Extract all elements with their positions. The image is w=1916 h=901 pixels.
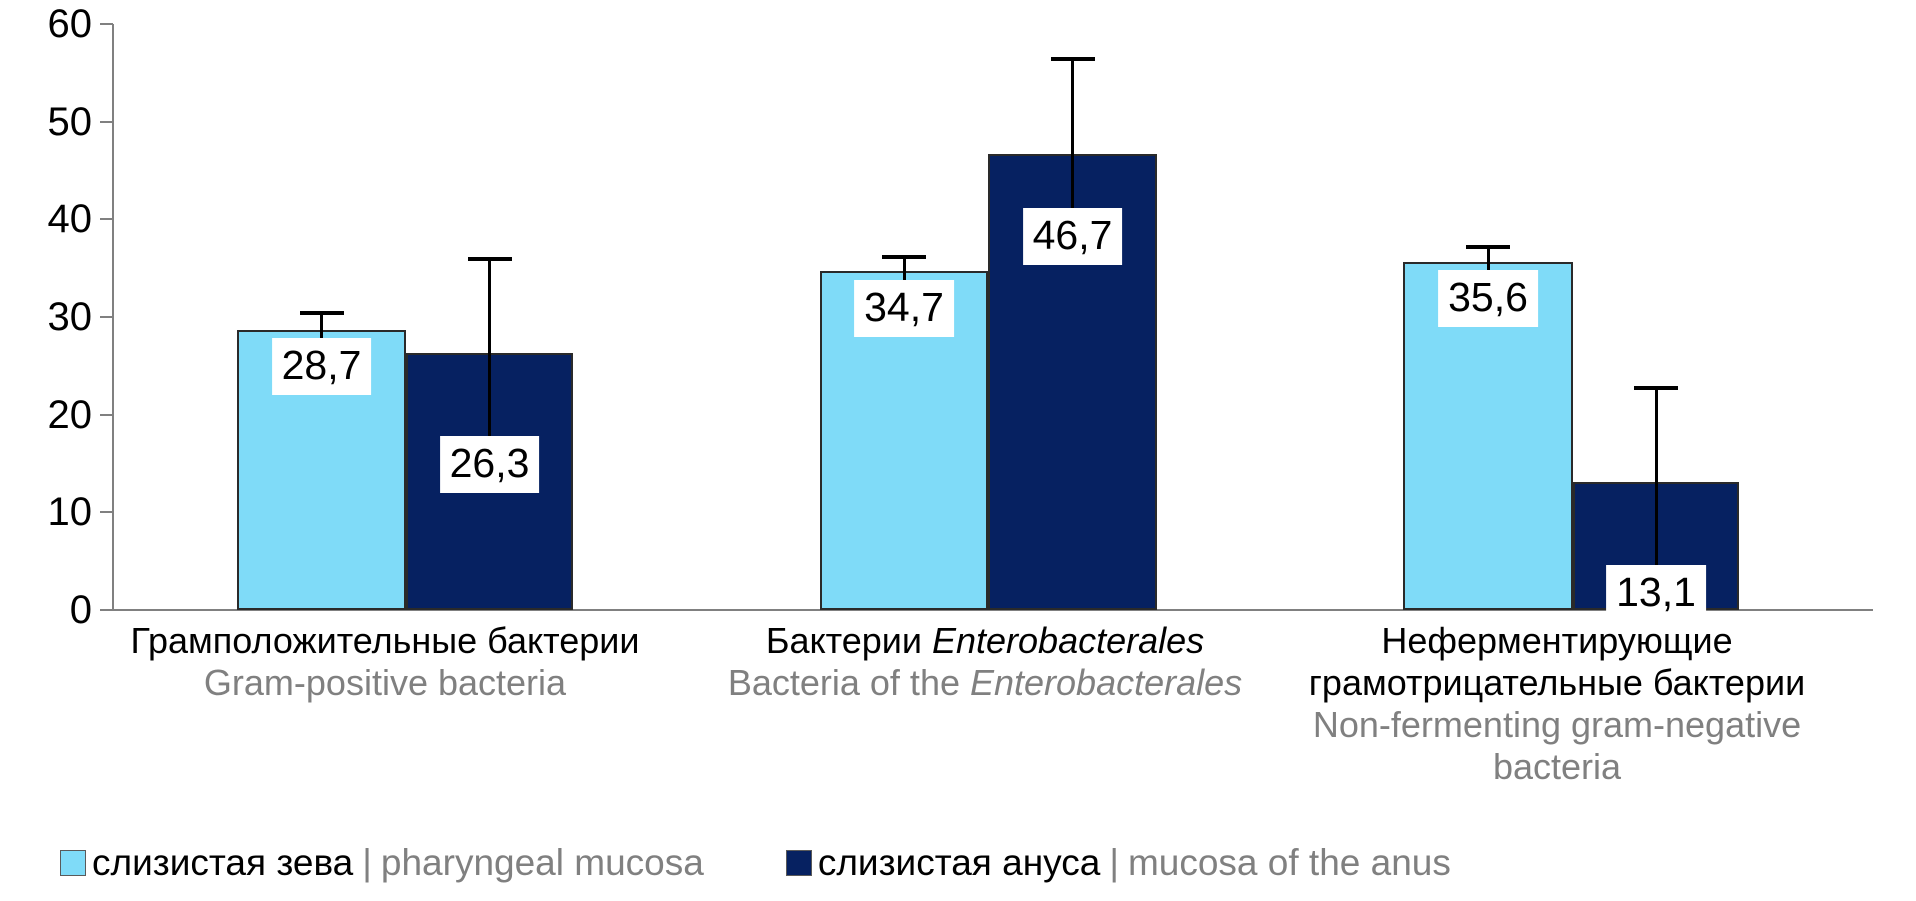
bar-value-label-series0-group1: 34,7 (854, 280, 954, 337)
legend-item-1[interactable]: слизистая ануса|mucosa of the anus (786, 842, 1451, 884)
y-tick-mark (100, 121, 113, 123)
y-tick-mark (100, 316, 113, 318)
error-bar-cap-top (882, 255, 926, 259)
legend-label-en: mucosa of the anus (1128, 842, 1451, 884)
category-label-1: Бактерии EnterobacteralesBacteria of the… (700, 620, 1270, 704)
category-label-ru-taxon: Enterobacterales (932, 620, 1204, 661)
category-label-ru: Грамположительные бактерии (100, 620, 670, 662)
error-bar-cap-top (1051, 57, 1095, 61)
y-tick-label: 50 (0, 102, 92, 142)
legend-separator: | (1100, 842, 1128, 884)
chart-legend: слизистая зева|pharyngeal mucosaслизиста… (60, 842, 1533, 884)
category-label-ru: Неферментирующие грамотрицательные бакте… (1272, 620, 1842, 704)
error-bar-cap-top (1634, 386, 1678, 390)
error-bar-stem (488, 257, 491, 447)
legend-item-0[interactable]: слизистая зева|pharyngeal mucosa (60, 842, 704, 884)
error-bar-cap-top (300, 311, 344, 315)
error-bar-series1-group1 (988, 57, 1157, 220)
category-label-2: Неферментирующие грамотрицательные бакте… (1272, 620, 1842, 788)
legend-label-ru: слизистая зева (92, 842, 353, 884)
legend-separator: | (353, 842, 381, 884)
y-tick-mark (100, 511, 113, 513)
error-bar-cap-top (468, 257, 512, 261)
error-bar-cap-top (1466, 245, 1510, 249)
plot-area: 28,734,735,626,346,713,1 (113, 24, 1843, 610)
category-label-en: Gram-positive bacteria (100, 662, 670, 704)
y-tick-label: 20 (0, 395, 92, 435)
error-bar-series1-group0 (406, 257, 573, 447)
error-bar-series1-group2 (1573, 386, 1739, 576)
y-tick-label: 40 (0, 199, 92, 239)
category-label-en: Non-fermenting gram-negative bacteria (1272, 704, 1842, 788)
category-label-0: Грамположительные бактерииGram-positive … (100, 620, 670, 704)
error-bar-stem (1655, 386, 1658, 576)
legend-swatch-icon (60, 850, 86, 876)
y-tick-mark (100, 414, 113, 416)
category-label-en-taxon: Enterobacterales (970, 662, 1242, 703)
bar-value-label-series1-group1: 46,7 (1023, 208, 1123, 265)
y-tick-mark (100, 609, 113, 611)
legend-label-ru: слизистая ануса (818, 842, 1101, 884)
y-tick-label: 30 (0, 297, 92, 337)
bar-chart: 6050403020100 28,734,735,626,346,713,1 Г… (0, 0, 1916, 901)
bar-value-label-series1-group0: 26,3 (440, 436, 540, 493)
y-tick-mark (100, 23, 113, 25)
y-tick-label: 60 (0, 4, 92, 44)
y-tick-label: 10 (0, 492, 92, 532)
bar-value-label-series1-group2: 13,1 (1606, 565, 1706, 622)
error-bar-stem (1071, 57, 1074, 220)
bar-value-label-series0-group2: 35,6 (1438, 270, 1538, 327)
legend-swatch-icon (786, 850, 812, 876)
legend-label-en: pharyngeal mucosa (381, 842, 704, 884)
y-tick-label: 0 (0, 590, 92, 630)
bar-value-label-series0-group0: 28,7 (272, 338, 372, 395)
category-label-en: Bacteria of the Enterobacterales (700, 662, 1270, 704)
y-tick-mark (100, 218, 113, 220)
category-label-ru: Бактерии Enterobacterales (700, 620, 1270, 662)
